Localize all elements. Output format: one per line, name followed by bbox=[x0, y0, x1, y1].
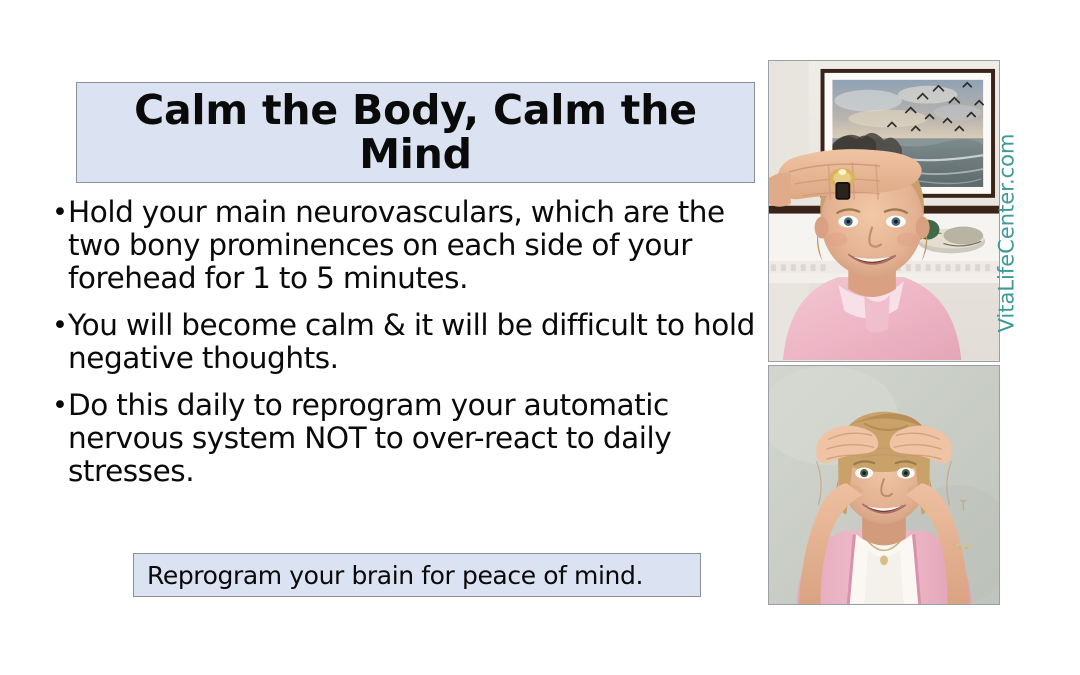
slide-canvas: Calm the Body, Calm the Mind • Hold your… bbox=[0, 0, 1080, 675]
list-item-label: Hold your main neurovasculars, which are… bbox=[68, 196, 764, 295]
photo-two-hands-forehead-image bbox=[769, 366, 999, 604]
watermark: VitaLifeCenter.com bbox=[992, 118, 1020, 348]
photo-one-hand-forehead-image bbox=[769, 61, 999, 360]
callout-box: Reprogram your brain for peace of mind. bbox=[133, 553, 701, 597]
list-item: • You will become calm & it will be diff… bbox=[52, 309, 764, 375]
bullet-list: • Hold your main neurovasculars, which a… bbox=[52, 196, 764, 502]
list-item: • Hold your main neurovasculars, which a… bbox=[52, 196, 764, 295]
photo-one-hand-forehead bbox=[768, 60, 1000, 362]
callout-label: Reprogram your brain for peace of mind. bbox=[134, 563, 643, 588]
bullet-dot-icon: • bbox=[52, 389, 68, 423]
page-title: Calm the Body, Calm the Mind bbox=[77, 89, 754, 177]
list-item-label: Do this daily to reprogram your automati… bbox=[68, 389, 764, 488]
bullet-dot-icon: • bbox=[52, 309, 68, 343]
list-item: • Do this daily to reprogram your automa… bbox=[52, 389, 764, 488]
title-box: Calm the Body, Calm the Mind bbox=[76, 82, 755, 183]
bullet-dot-icon: • bbox=[52, 196, 68, 230]
photo-two-hands-forehead bbox=[768, 365, 1000, 605]
list-item-label: You will become calm & it will be diffic… bbox=[68, 309, 764, 375]
watermark-label: VitaLifeCenter.com bbox=[994, 134, 1018, 333]
